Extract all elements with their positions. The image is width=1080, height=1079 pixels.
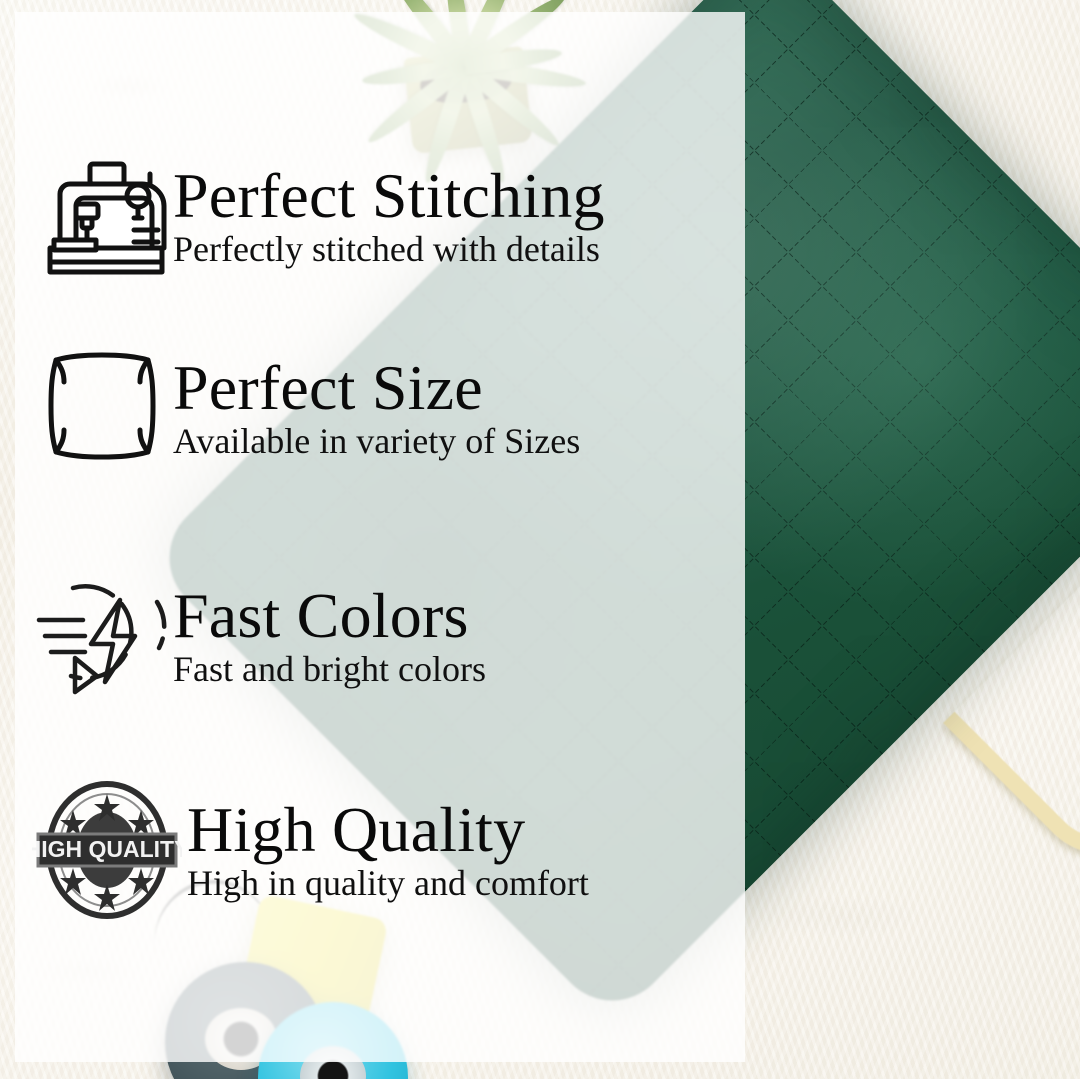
feature-text: Perfect Stitching Perfectly stitched wit… — [173, 165, 605, 268]
high-quality-badge-icon: HIGH QUALITY — [27, 780, 187, 920]
badge-label: HIGH QUALITY — [32, 836, 182, 862]
feature-title: Perfect Size — [173, 357, 580, 420]
feature-subtitle: Perfectly stitched with details — [173, 231, 605, 267]
feature-row-fast-colors: Fast Colors Fast and bright colors — [33, 572, 486, 700]
feature-title: Fast Colors — [173, 585, 486, 648]
feature-subtitle: Available in variety of Sizes — [173, 423, 580, 459]
feature-list: Perfect Stitching Perfectly stitched wit… — [15, 12, 745, 1062]
feature-title: High Quality — [187, 799, 589, 862]
pillow-icon — [33, 344, 173, 472]
feature-text: High Quality High in quality and comfort — [187, 799, 589, 902]
product-infographic: Perfect Stitching Perfectly stitched wit… — [0, 0, 1080, 1079]
feature-row-perfect-stitching: Perfect Stitching Perfectly stitched wit… — [33, 152, 605, 280]
sewing-machine-icon — [33, 152, 173, 280]
fast-colors-icon — [33, 572, 173, 700]
feature-text: Fast Colors Fast and bright colors — [173, 585, 486, 688]
feature-subtitle: Fast and bright colors — [173, 651, 486, 687]
feature-row-high-quality: HIGH QUALITY High Quality High in qualit… — [27, 780, 589, 920]
feature-title: Perfect Stitching — [173, 165, 605, 228]
feature-row-perfect-size: Perfect Size Available in variety of Siz… — [33, 344, 580, 472]
feature-subtitle: High in quality and comfort — [187, 865, 589, 901]
feature-text: Perfect Size Available in variety of Siz… — [173, 357, 580, 460]
